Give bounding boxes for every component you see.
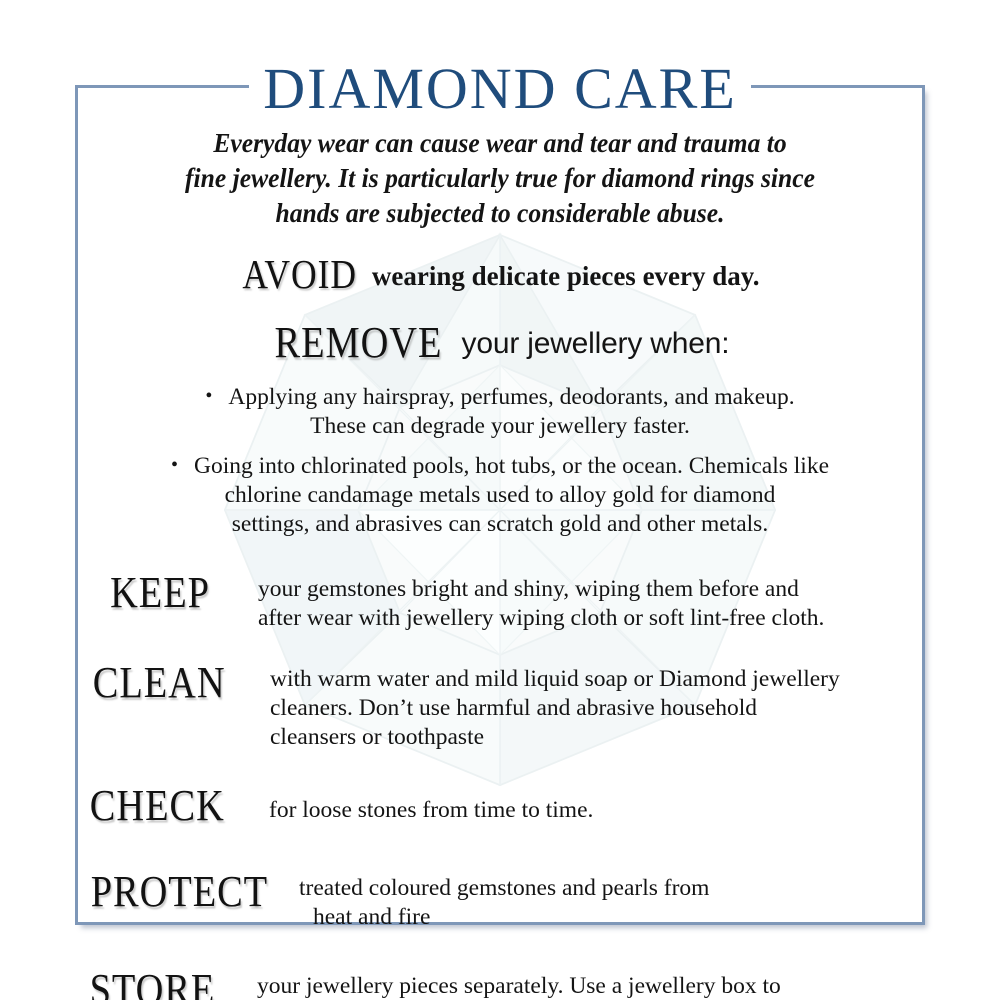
- keep-line-1: your gemstones bright and shiny, wiping …: [258, 575, 922, 604]
- remove-keyword: REMOVE: [274, 316, 442, 369]
- list-item: •Applying any hairspray, perfumes, deodo…: [78, 382, 922, 441]
- page-title: DIAMOND CARE: [249, 58, 751, 120]
- list-item: •Going into chlorinated pools, hot tubs,…: [78, 451, 922, 539]
- intro-line-2: fine jewellery. It is particularly true …: [133, 160, 868, 195]
- clean-line-2: cleaners. Don’t use harmful and abrasive…: [270, 694, 922, 723]
- bullet-1-line-1: Applying any hairspray, perfumes, deodor…: [228, 384, 794, 410]
- bullet-2-line-2: chlorine candamage metals used to alloy …: [225, 482, 776, 508]
- protect-line-2: heat and fire: [299, 903, 922, 932]
- section-protect: PROTECT treated coloured gemstones and p…: [78, 868, 922, 932]
- remove-bullet-list: •Applying any hairspray, perfumes, deodo…: [78, 382, 922, 539]
- intro-paragraph: Everyday wear can cause wear and tear an…: [133, 125, 868, 230]
- check-text: for loose stones from time to time.: [269, 782, 922, 825]
- keep-line-2: after wear with jewellery wiping cloth o…: [258, 604, 922, 633]
- check-keyword-cell: CHECK: [78, 782, 269, 828]
- remove-text: your jewellery when:: [462, 327, 730, 360]
- clean-line-3: cleansers or toothpaste: [270, 723, 922, 752]
- diamond-care-poster: DIAMOND CARE Everyday wear can cause wea…: [0, 0, 1000, 1000]
- clean-keyword: CLEAN: [93, 658, 226, 707]
- protect-text: treated coloured gemstones and pearls fr…: [299, 868, 922, 932]
- poster-content: Everyday wear can cause wear and tear an…: [78, 125, 922, 1000]
- section-store: STORE your jewellery pieces separately. …: [78, 966, 922, 1000]
- check-keyword: CHECK: [90, 781, 225, 830]
- keep-keyword-cell: KEEP: [78, 569, 258, 615]
- keep-text: your gemstones bright and shiny, wiping …: [258, 569, 922, 633]
- protect-line-1: treated coloured gemstones and pearls fr…: [299, 874, 922, 903]
- bullet-icon: •: [171, 451, 178, 480]
- store-keyword-cell: STORE: [78, 966, 257, 1000]
- section-avoid: AVOIDwearing delicate pieces every day.: [78, 254, 922, 297]
- section-clean: CLEAN with warm water and mild liquid so…: [78, 659, 922, 752]
- intro-line-3: hands are subjected to considerable abus…: [133, 195, 868, 230]
- avoid-keyword: AVOID: [243, 251, 358, 299]
- page-title-wrap: DIAMOND CARE: [0, 58, 1000, 120]
- check-line-1: for loose stones from time to time.: [269, 796, 922, 825]
- clean-line-1: with warm water and mild liquid soap or …: [270, 665, 922, 694]
- clean-keyword-cell: CLEAN: [78, 659, 270, 705]
- store-text: your jewellery pieces separately. Use a …: [257, 966, 922, 1000]
- avoid-text: wearing delicate pieces every day.: [372, 261, 760, 291]
- section-remove: REMOVEyour jewellery when:: [78, 319, 922, 366]
- bullet-2-line-3: settings, and abrasives can scratch gold…: [232, 511, 768, 537]
- store-keyword: STORE: [90, 965, 216, 1000]
- section-keep: KEEP your gemstones bright and shiny, wi…: [78, 569, 922, 633]
- bullet-1-line-2: These can degrade your jewellery faster.: [310, 413, 690, 439]
- store-line-1: your jewellery pieces separately. Use a …: [257, 972, 922, 1000]
- clean-text: with warm water and mild liquid soap or …: [270, 659, 922, 752]
- protect-keyword-cell: PROTECT: [78, 868, 299, 914]
- protect-keyword: PROTECT: [91, 867, 268, 916]
- intro-line-1: Everyday wear can cause wear and tear an…: [133, 125, 868, 160]
- keep-keyword: KEEP: [110, 568, 210, 617]
- bullet-2-line-1: Going into chlorinated pools, hot tubs, …: [194, 453, 829, 479]
- bullet-icon: •: [205, 382, 212, 411]
- section-check: CHECK for loose stones from time to time…: [78, 782, 922, 828]
